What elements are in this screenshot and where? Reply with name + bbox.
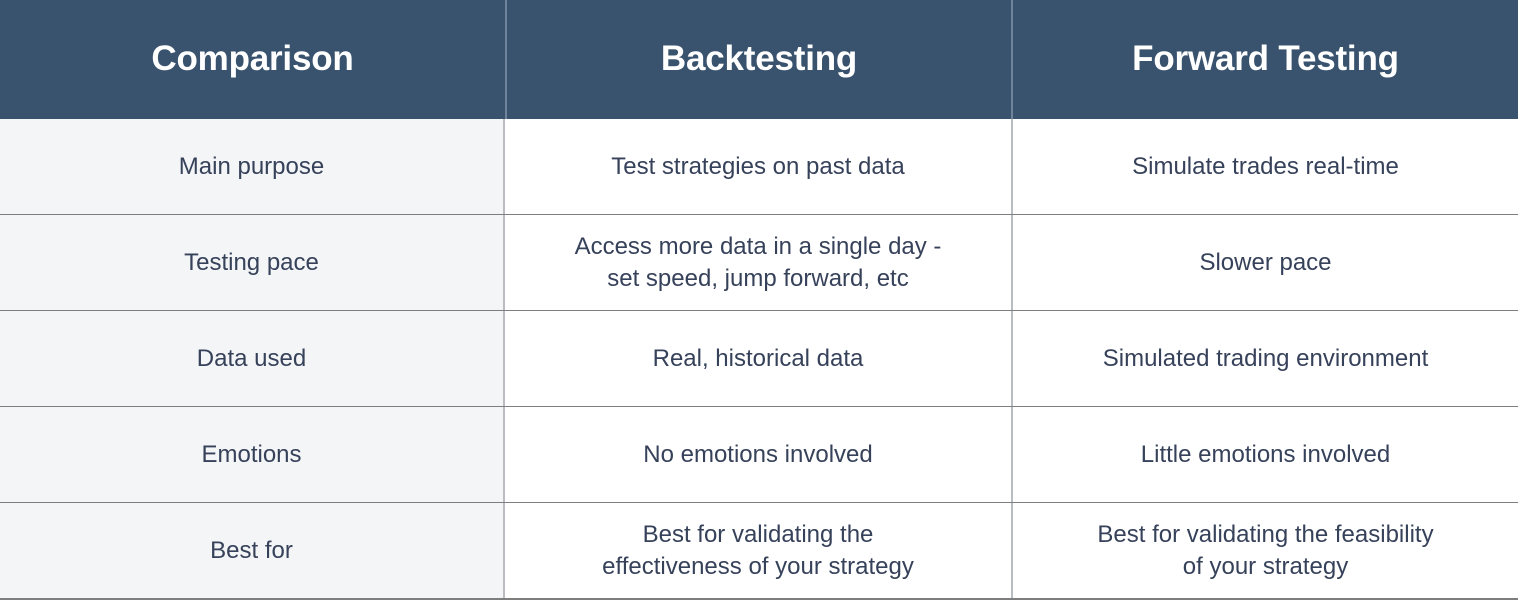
table-row: Emotions No emotions involved Little emo… <box>0 407 1518 503</box>
row-aspect-label: Testing pace <box>0 215 505 310</box>
cell-backtesting: Access more data in a single day - set s… <box>505 215 1013 310</box>
table-body: Main purpose Test strategies on past dat… <box>0 119 1518 600</box>
column-header-forward-testing: Forward Testing <box>1013 0 1518 119</box>
cell-forward-testing: Best for validating the feasibility of y… <box>1013 503 1518 598</box>
cell-backtesting: No emotions involved <box>505 407 1013 502</box>
table-row: Main purpose Test strategies on past dat… <box>0 119 1518 215</box>
cell-forward-testing: Slower pace <box>1013 215 1518 310</box>
column-header-comparison: Comparison <box>0 0 505 119</box>
cell-forward-testing: Simulated trading environment <box>1013 311 1518 406</box>
table-row: Data used Real, historical data Simulate… <box>0 311 1518 407</box>
row-aspect-label: Data used <box>0 311 505 406</box>
column-header-backtesting: Backtesting <box>505 0 1013 119</box>
cell-forward-testing: Little emotions involved <box>1013 407 1518 502</box>
comparison-table: Comparison Backtesting Forward Testing M… <box>0 0 1518 600</box>
cell-forward-testing: Simulate trades real-time <box>1013 119 1518 214</box>
row-aspect-label: Emotions <box>0 407 505 502</box>
table-row: Testing pace Access more data in a singl… <box>0 215 1518 311</box>
table-row: Best for Best for validating the effecti… <box>0 503 1518 600</box>
cell-backtesting: Real, historical data <box>505 311 1013 406</box>
row-aspect-label: Best for <box>0 503 505 598</box>
table-header-row: Comparison Backtesting Forward Testing <box>0 0 1518 119</box>
cell-backtesting: Test strategies on past data <box>505 119 1013 214</box>
row-aspect-label: Main purpose <box>0 119 505 214</box>
cell-backtesting: Best for validating the effectiveness of… <box>505 503 1013 598</box>
